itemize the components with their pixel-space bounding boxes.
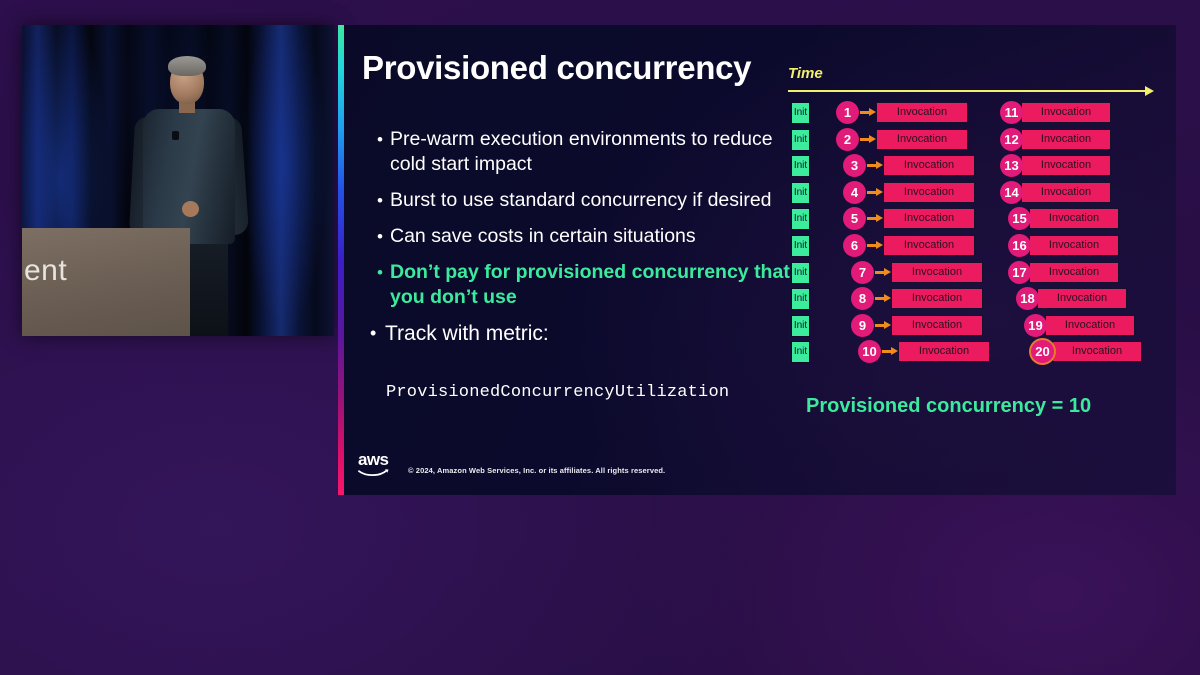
invocation-arrow-icon xyxy=(867,164,877,167)
invocation-bar: Invocation xyxy=(1052,341,1142,362)
aws-wordmark: aws xyxy=(358,453,394,467)
invocation-number-circle: 6 xyxy=(843,234,866,257)
invocation-arrow-icon xyxy=(875,271,885,274)
bullet-text: Burst to use standard concurrency if des… xyxy=(390,188,772,213)
bullet-text: Pre-warm execution environments to reduc… xyxy=(390,127,790,177)
bullet-list: • Pre-warm execution environments to red… xyxy=(370,127,790,350)
invocation-number-circle: 11 xyxy=(1000,101,1023,124)
time-axis-arrow-icon xyxy=(788,90,1146,92)
invocation-number-circle: 1 xyxy=(836,101,859,124)
bullet-dot-icon: • xyxy=(370,224,390,249)
speaker-hand xyxy=(182,201,199,217)
speaker-video-panel: ent xyxy=(22,25,334,336)
podium-text: ent xyxy=(24,254,67,288)
invocation-arrow-icon xyxy=(875,324,885,327)
invocation-bar: Invocation xyxy=(1021,155,1111,176)
invocation-bar: Invocation xyxy=(898,341,990,362)
presentation-slide: Provisioned concurrency • Pre-warm execu… xyxy=(338,25,1176,495)
invocation-number-circle: 18 xyxy=(1016,287,1039,310)
bullet-text: Track with metric: xyxy=(385,321,549,346)
copyright-text: © 2024, Amazon Web Services, Inc. or its… xyxy=(408,466,665,475)
invocation-number-circle: 14 xyxy=(1000,181,1023,204)
invocation-bar: Invocation xyxy=(876,129,968,150)
page-title: Provisioned concurrency xyxy=(362,49,751,87)
screen: ent Provisioned concurrency • Pre-warm e… xyxy=(0,0,1200,675)
invocation-bar: Invocation xyxy=(891,262,983,283)
invocation-arrow-icon xyxy=(882,350,892,353)
slide-accent-gradient-bar xyxy=(338,25,344,495)
invocation-bar: Invocation xyxy=(883,155,975,176)
init-box: Init xyxy=(791,315,810,337)
init-box: Init xyxy=(791,182,810,204)
init-box: Init xyxy=(791,262,810,284)
init-box: Init xyxy=(791,341,810,363)
speaker-torso xyxy=(143,109,235,244)
metric-name-code: ProvisionedConcurrencyUtilization xyxy=(386,383,729,402)
bullet-dot-icon: • xyxy=(370,127,390,152)
invocation-bar: Invocation xyxy=(1021,102,1111,123)
invocation-number-circle: 5 xyxy=(843,207,866,230)
init-box: Init xyxy=(791,208,810,230)
invocation-arrow-icon xyxy=(867,191,877,194)
invocation-number-circle: 8 xyxy=(851,287,874,310)
invocation-bar: Invocation xyxy=(883,208,975,229)
bullet-text: Can save costs in certain situations xyxy=(390,224,696,249)
invocation-bar: Invocation xyxy=(1045,315,1135,336)
invocation-number-circle: 17 xyxy=(1008,261,1031,284)
invocation-bar: Invocation xyxy=(883,235,975,256)
invocation-arrow-icon xyxy=(860,138,870,141)
invocation-number-circle: 13 xyxy=(1000,154,1023,177)
concurrency-diagram: Time InitInitInitInitInitInitInitInitIni… xyxy=(788,65,1163,425)
list-item: • Can save costs in certain situations xyxy=(370,224,790,249)
invocation-number-circle: 7 xyxy=(851,261,874,284)
invocation-number-circle: 10 xyxy=(858,340,881,363)
bullet-dot-icon: • xyxy=(370,260,390,285)
invocation-bar: Invocation xyxy=(891,288,983,309)
invocation-arrow-icon xyxy=(860,111,870,114)
provisioned-concurrency-caption: Provisioned concurrency = 10 xyxy=(806,395,1091,418)
invocation-bar: Invocation xyxy=(1029,208,1119,229)
invocation-number-circle: 2 xyxy=(836,128,859,151)
podium: ent xyxy=(22,228,190,336)
invocation-number-circle: 16 xyxy=(1008,234,1031,257)
init-box: Init xyxy=(791,235,810,257)
aws-smile-icon xyxy=(358,468,390,477)
invocation-bar: Invocation xyxy=(1037,288,1127,309)
invocation-number-circle: 12 xyxy=(1000,128,1023,151)
init-box: Init xyxy=(791,288,810,310)
speaker-hair xyxy=(168,56,206,76)
invocation-bar: Invocation xyxy=(883,182,975,203)
invocation-number-circle: 4 xyxy=(843,181,866,204)
invocation-bar: Invocation xyxy=(891,315,983,336)
invocation-arrow-icon xyxy=(867,244,877,247)
invocation-arrow-icon xyxy=(875,297,885,300)
bullet-dot-icon: • xyxy=(370,188,390,213)
init-box: Init xyxy=(791,155,810,177)
invocation-number-circle: 15 xyxy=(1008,207,1031,230)
lapel-microphone-icon xyxy=(172,131,179,140)
bullet-text-highlighted: Don’t pay for provisioned concurrency th… xyxy=(390,260,790,310)
invocation-bar: Invocation xyxy=(1029,262,1119,283)
invocation-number-circle: 9 xyxy=(851,314,874,337)
list-item-highlighted: • Don’t pay for provisioned concurrency … xyxy=(370,260,790,310)
list-item-track-metric: • Track with metric: xyxy=(370,321,790,346)
invocation-bar: Invocation xyxy=(876,102,968,123)
init-box: Init xyxy=(791,129,810,151)
invocation-bar: Invocation xyxy=(1029,235,1119,256)
invocation-arrow-icon xyxy=(867,217,877,220)
list-item: • Pre-warm execution environments to red… xyxy=(370,127,790,177)
list-item: • Burst to use standard concurrency if d… xyxy=(370,188,790,213)
invocation-bar: Invocation xyxy=(1021,129,1111,150)
invocation-bar: Invocation xyxy=(1021,182,1111,203)
init-box: Init xyxy=(791,102,810,124)
bullet-dot-icon: • xyxy=(370,321,385,346)
invocation-number-circle: 19 xyxy=(1024,314,1047,337)
time-axis-label: Time xyxy=(788,65,823,82)
invocation-number-circle: 3 xyxy=(843,154,866,177)
invocation-number-circle: 20 xyxy=(1031,340,1054,363)
aws-logo-icon: aws xyxy=(358,453,394,477)
